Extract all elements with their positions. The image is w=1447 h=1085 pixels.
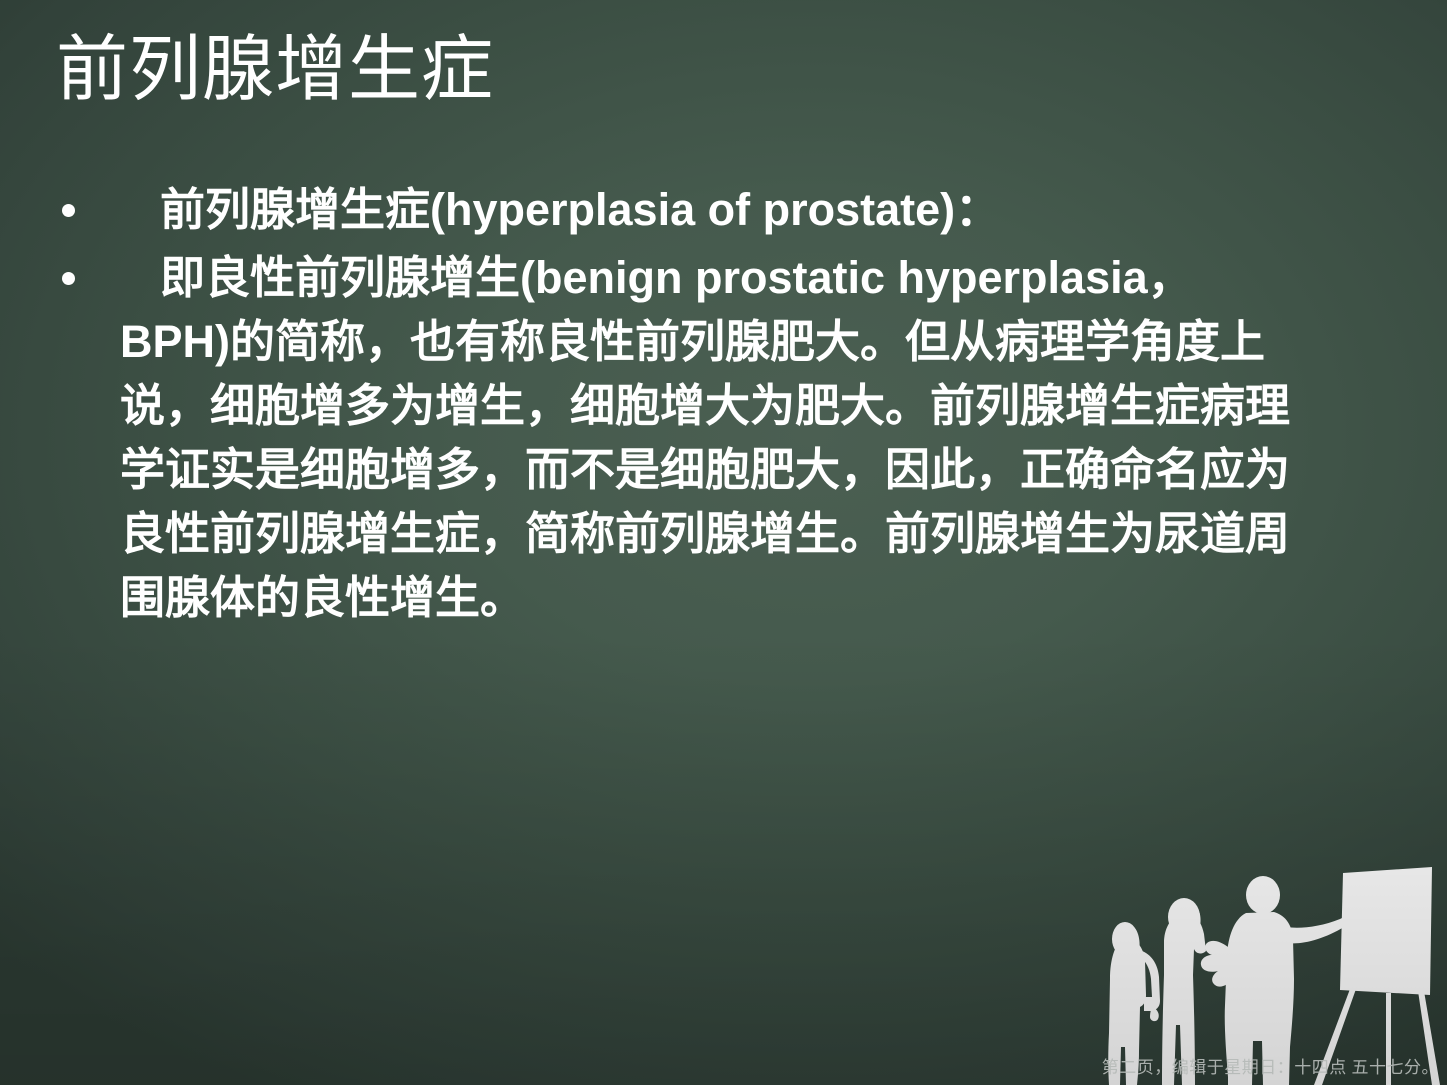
presentation-silhouette-icon <box>1100 855 1447 1085</box>
list-item: 前列腺增生症(hyperplasia of prostate)： <box>56 178 1296 242</box>
bullet-dot-icon <box>62 272 75 285</box>
list-item: 即良性前列腺增生(benign prostatic hyperplasia，BP… <box>56 246 1296 630</box>
slide-footer: 第二页，编辑于星期日：十四点 五十七分。 <box>0 1057 1439 1079</box>
slide-canvas: 前列腺增生症 前列腺增生症(hyperplasia of prostate)： … <box>0 0 1447 1085</box>
bullet-text: 即良性前列腺增生(benign prostatic hyperplasia，BP… <box>120 246 1296 630</box>
page-title: 前列腺增生症 <box>56 34 1336 106</box>
slide-body: 前列腺增生症(hyperplasia of prostate)： 即良性前列腺增… <box>56 178 1296 634</box>
bullet-dot-icon <box>62 204 75 217</box>
bullet-text: 前列腺增生症(hyperplasia of prostate)： <box>120 178 1296 242</box>
